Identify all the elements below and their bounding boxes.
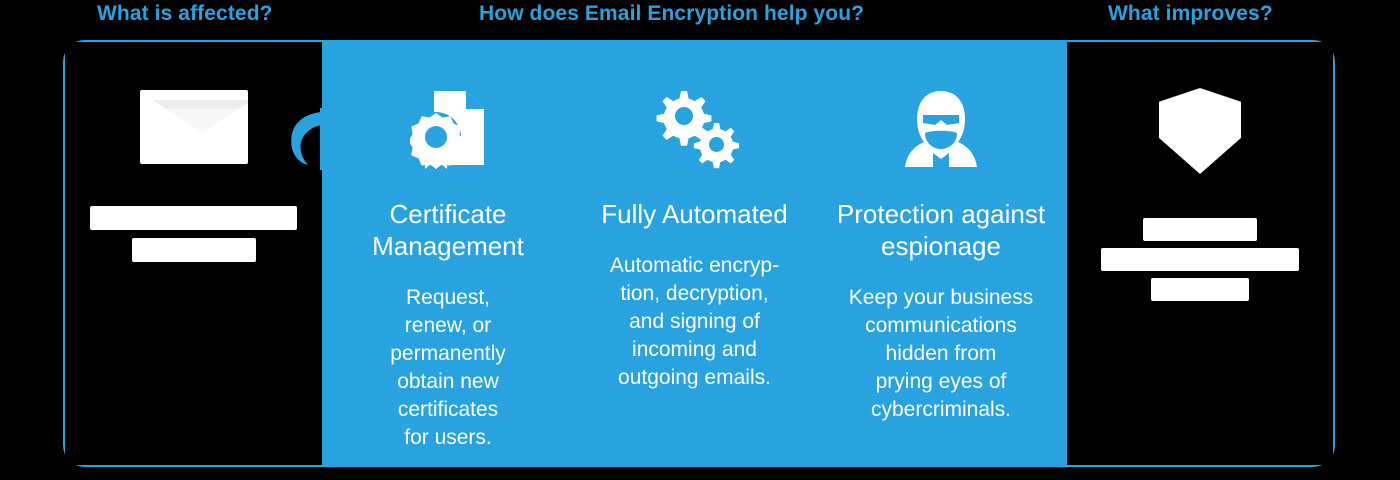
certificate-document-icon	[410, 88, 486, 170]
feature-title: Certificate Management	[372, 198, 524, 262]
left-panel-title	[90, 206, 297, 262]
feature-body: Automatic encryp- tion, decryption, and …	[610, 252, 779, 392]
infographic-root: What is affected? How does Email Encrypt…	[0, 0, 1400, 480]
redacted-text-line	[90, 206, 297, 230]
left-panel	[65, 42, 322, 465]
redacted-text-line	[1101, 248, 1299, 271]
redacted-text-line	[1143, 218, 1257, 241]
right-panel	[1067, 42, 1333, 465]
spy-mask-icon	[903, 88, 979, 170]
header-what-is-affected: What is affected?	[97, 2, 273, 26]
redacted-text-line	[132, 238, 256, 262]
feature-body: Request, renew, or permanently obtain ne…	[390, 284, 506, 452]
right-panel-title	[1101, 218, 1299, 301]
feature-title: Protection against espionage	[837, 198, 1045, 262]
header-what-improves: What improves?	[1108, 2, 1273, 26]
gears-icon	[645, 88, 745, 170]
feature-body: Keep your business communications hidden…	[849, 284, 1033, 424]
feature-column-protection-against-espionage: Protection against espionage Keep your b…	[821, 40, 1061, 467]
feature-title: Fully Automated	[601, 198, 787, 230]
header-how-does-it-help: How does Email Encryption help you?	[479, 2, 864, 26]
feature-column-fully-automated: Fully Automated Automatic encryp- tion, …	[575, 40, 815, 467]
center-panel: Certificate Management Request, renew, o…	[322, 40, 1067, 467]
envelope-icon	[140, 90, 248, 164]
redacted-text-line	[1151, 278, 1249, 301]
shield-icon	[1159, 88, 1241, 174]
feature-column-certificate-management: Certificate Management Request, renew, o…	[328, 40, 568, 467]
